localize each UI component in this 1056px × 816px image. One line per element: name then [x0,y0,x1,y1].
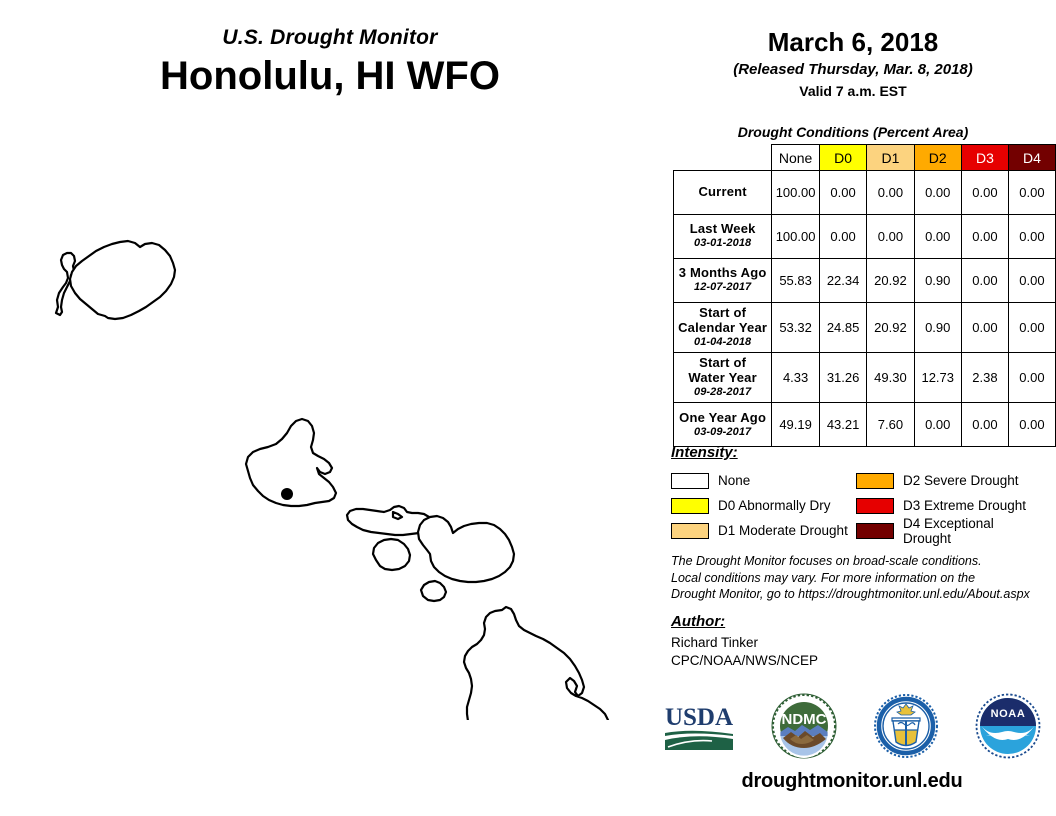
valid-time: Valid 7 a.m. EST [672,83,1034,99]
cell-last-week-d0: 0.00 [819,215,866,259]
cell-wy-d2: 12.73 [914,353,961,403]
column-header-d0: D0 [819,145,866,171]
cell-1yr-d4: 0.00 [1008,403,1055,447]
swatch-d4-icon [856,523,894,539]
swatch-d0-icon [671,498,709,514]
disclaimer-line-1: The Drought Monitor focuses on broad-sca… [671,553,1051,570]
legend-item-none: None [671,468,856,493]
intensity-legend: Intensity: None D2 Severe Drought D0 Abn… [671,444,1041,543]
legend-item-d3: D3 Extreme Drought [856,493,1041,518]
release-date: (Released Thursday, Mar. 8, 2018) [672,61,1034,78]
cell-last-week-d3: 0.00 [961,215,1008,259]
column-header-d1: D1 [867,145,914,171]
table-row: Last Week 03-01-2018 100.00 0.00 0.00 0.… [674,215,1056,259]
cell-1yr-none: 49.19 [772,403,820,447]
logo-row: USDA NDMC [662,692,1042,764]
intensity-heading: Intensity: [671,444,1041,461]
disclaimer-line-3: Drought Monitor, go to https://droughtmo… [671,586,1051,603]
cell-3mo-d2: 0.90 [914,259,961,303]
cell-current-d2: 0.00 [914,171,961,215]
swatch-d3-icon [856,498,894,514]
cell-last-week-none: 100.00 [772,215,820,259]
disclaimer-text: The Drought Monitor focuses on broad-sca… [671,553,1051,603]
cell-wy-d1: 49.30 [867,353,914,403]
island-lanai [373,539,410,570]
program-title: U.S. Drought Monitor [0,26,660,49]
cell-current-d0: 0.00 [819,171,866,215]
table-row: Start of Water Year 09-28-2017 4.33 31.2… [674,353,1056,403]
hawaii-islands-svg [0,120,665,720]
table-row: 3 Months Ago 12-07-2017 55.83 22.34 20.9… [674,259,1056,303]
disclaimer-line-2: Local conditions may vary. For more info… [671,570,1051,587]
cell-last-week-d2: 0.00 [914,215,961,259]
swatch-none-icon [671,473,709,489]
noaa-logo: NOAA [974,692,1042,765]
valid-date: March 6, 2018 [672,28,1034,58]
drought-conditions-table: None D0 D1 D2 D3 D4 Current 100.00 0.00 … [673,144,1056,447]
legend-label-d2: D2 Severe Drought [903,473,1019,488]
legend-item-d1: D1 Moderate Drought [671,518,856,543]
cell-cy-d2: 0.90 [914,303,961,353]
column-header-none: None [772,145,820,171]
row-label-start-calendar-year: Start of Calendar Year 01-04-2018 [674,303,772,353]
cell-1yr-d0: 43.21 [819,403,866,447]
cell-wy-d0: 31.26 [819,353,866,403]
cell-cy-d0: 24.85 [819,303,866,353]
site-url[interactable]: droughtmonitor.unl.edu [662,770,1042,793]
cell-1yr-d3: 0.00 [961,403,1008,447]
cell-cy-d1: 20.92 [867,303,914,353]
table-row: Start of Calendar Year 01-04-2018 53.32 … [674,303,1056,353]
author-affiliation: CPC/NOAA/NWS/NCEP [671,652,1041,670]
cell-3mo-d0: 22.34 [819,259,866,303]
swatch-d2-icon [856,473,894,489]
hawaii-map [0,120,665,720]
cell-1yr-d1: 7.60 [867,403,914,447]
island-kahoolawe [421,581,446,601]
usda-logo: USDA [662,700,736,757]
row-label-one-year-ago: One Year Ago 03-09-2017 [674,403,772,447]
cell-cy-d3: 0.00 [961,303,1008,353]
cell-current-none: 100.00 [772,171,820,215]
legend-item-d0: D0 Abnormally Dry [671,493,856,518]
cell-current-d1: 0.00 [867,171,914,215]
date-block: March 6, 2018 (Released Thursday, Mar. 8… [672,28,1034,99]
honolulu-station-dot [281,488,293,500]
island-kauai [70,241,175,319]
legend-label-d3: D3 Extreme Drought [903,498,1026,513]
row-label-start-water-year: Start of Water Year 09-28-2017 [674,353,772,403]
table-row: Current 100.00 0.00 0.00 0.00 0.00 0.00 [674,171,1056,215]
column-header-d4: D4 [1008,145,1055,171]
cell-cy-none: 53.32 [772,303,820,353]
row-label-current: Current [674,171,772,215]
cell-cy-d4: 0.00 [1008,303,1055,353]
island-hawaii [464,607,608,720]
author-name: Richard Tinker [671,634,1041,652]
cell-current-d4: 0.00 [1008,171,1055,215]
commerce-seal-logo [872,692,940,765]
cell-last-week-d1: 0.00 [867,215,914,259]
cell-3mo-d1: 20.92 [867,259,914,303]
cell-wy-d4: 0.00 [1008,353,1055,403]
author-block: Author: Richard Tinker CPC/NOAA/NWS/NCEP [671,613,1041,670]
legend-item-d4: D4 Exceptional Drought [856,518,1041,543]
table-caption: Drought Conditions (Percent Area) [672,124,1034,140]
cell-wy-d3: 2.38 [961,353,1008,403]
row-label-last-week: Last Week 03-01-2018 [674,215,772,259]
cell-wy-none: 4.33 [772,353,820,403]
legend-label-d4: D4 Exceptional Drought [903,516,1041,546]
author-heading: Author: [671,613,1041,630]
table-row: One Year Ago 03-09-2017 49.19 43.21 7.60… [674,403,1056,447]
swatch-d1-icon [671,523,709,539]
legend-label-none: None [718,473,750,488]
column-header-d3: D3 [961,145,1008,171]
usda-logo-text: USDA [665,704,733,731]
table-corner-cell [674,145,772,171]
legend-label-d1: D1 Moderate Drought [718,523,848,538]
island-maui [418,516,514,582]
title-block: U.S. Drought Monitor Honolulu, HI WFO [0,26,660,99]
cell-3mo-d3: 0.00 [961,259,1008,303]
ndmc-logo-text: NDMC [782,711,827,728]
noaa-logo-text: NOAA [991,708,1026,720]
legend-label-d0: D0 Abnormally Dry [718,498,831,513]
cell-3mo-none: 55.83 [772,259,820,303]
column-header-d2: D2 [914,145,961,171]
cell-3mo-d4: 0.00 [1008,259,1055,303]
cell-last-week-d4: 0.00 [1008,215,1055,259]
table-header-row: None D0 D1 D2 D3 D4 [674,145,1056,171]
row-label-three-months-ago: 3 Months Ago 12-07-2017 [674,259,772,303]
cell-1yr-d2: 0.00 [914,403,961,447]
ndmc-logo: NDMC [770,692,838,765]
legend-grid: None D2 Severe Drought D0 Abnormally Dry… [671,468,1041,543]
cell-current-d3: 0.00 [961,171,1008,215]
legend-item-d2: D2 Severe Drought [856,468,1041,493]
page-title: Honolulu, HI WFO [0,53,660,99]
